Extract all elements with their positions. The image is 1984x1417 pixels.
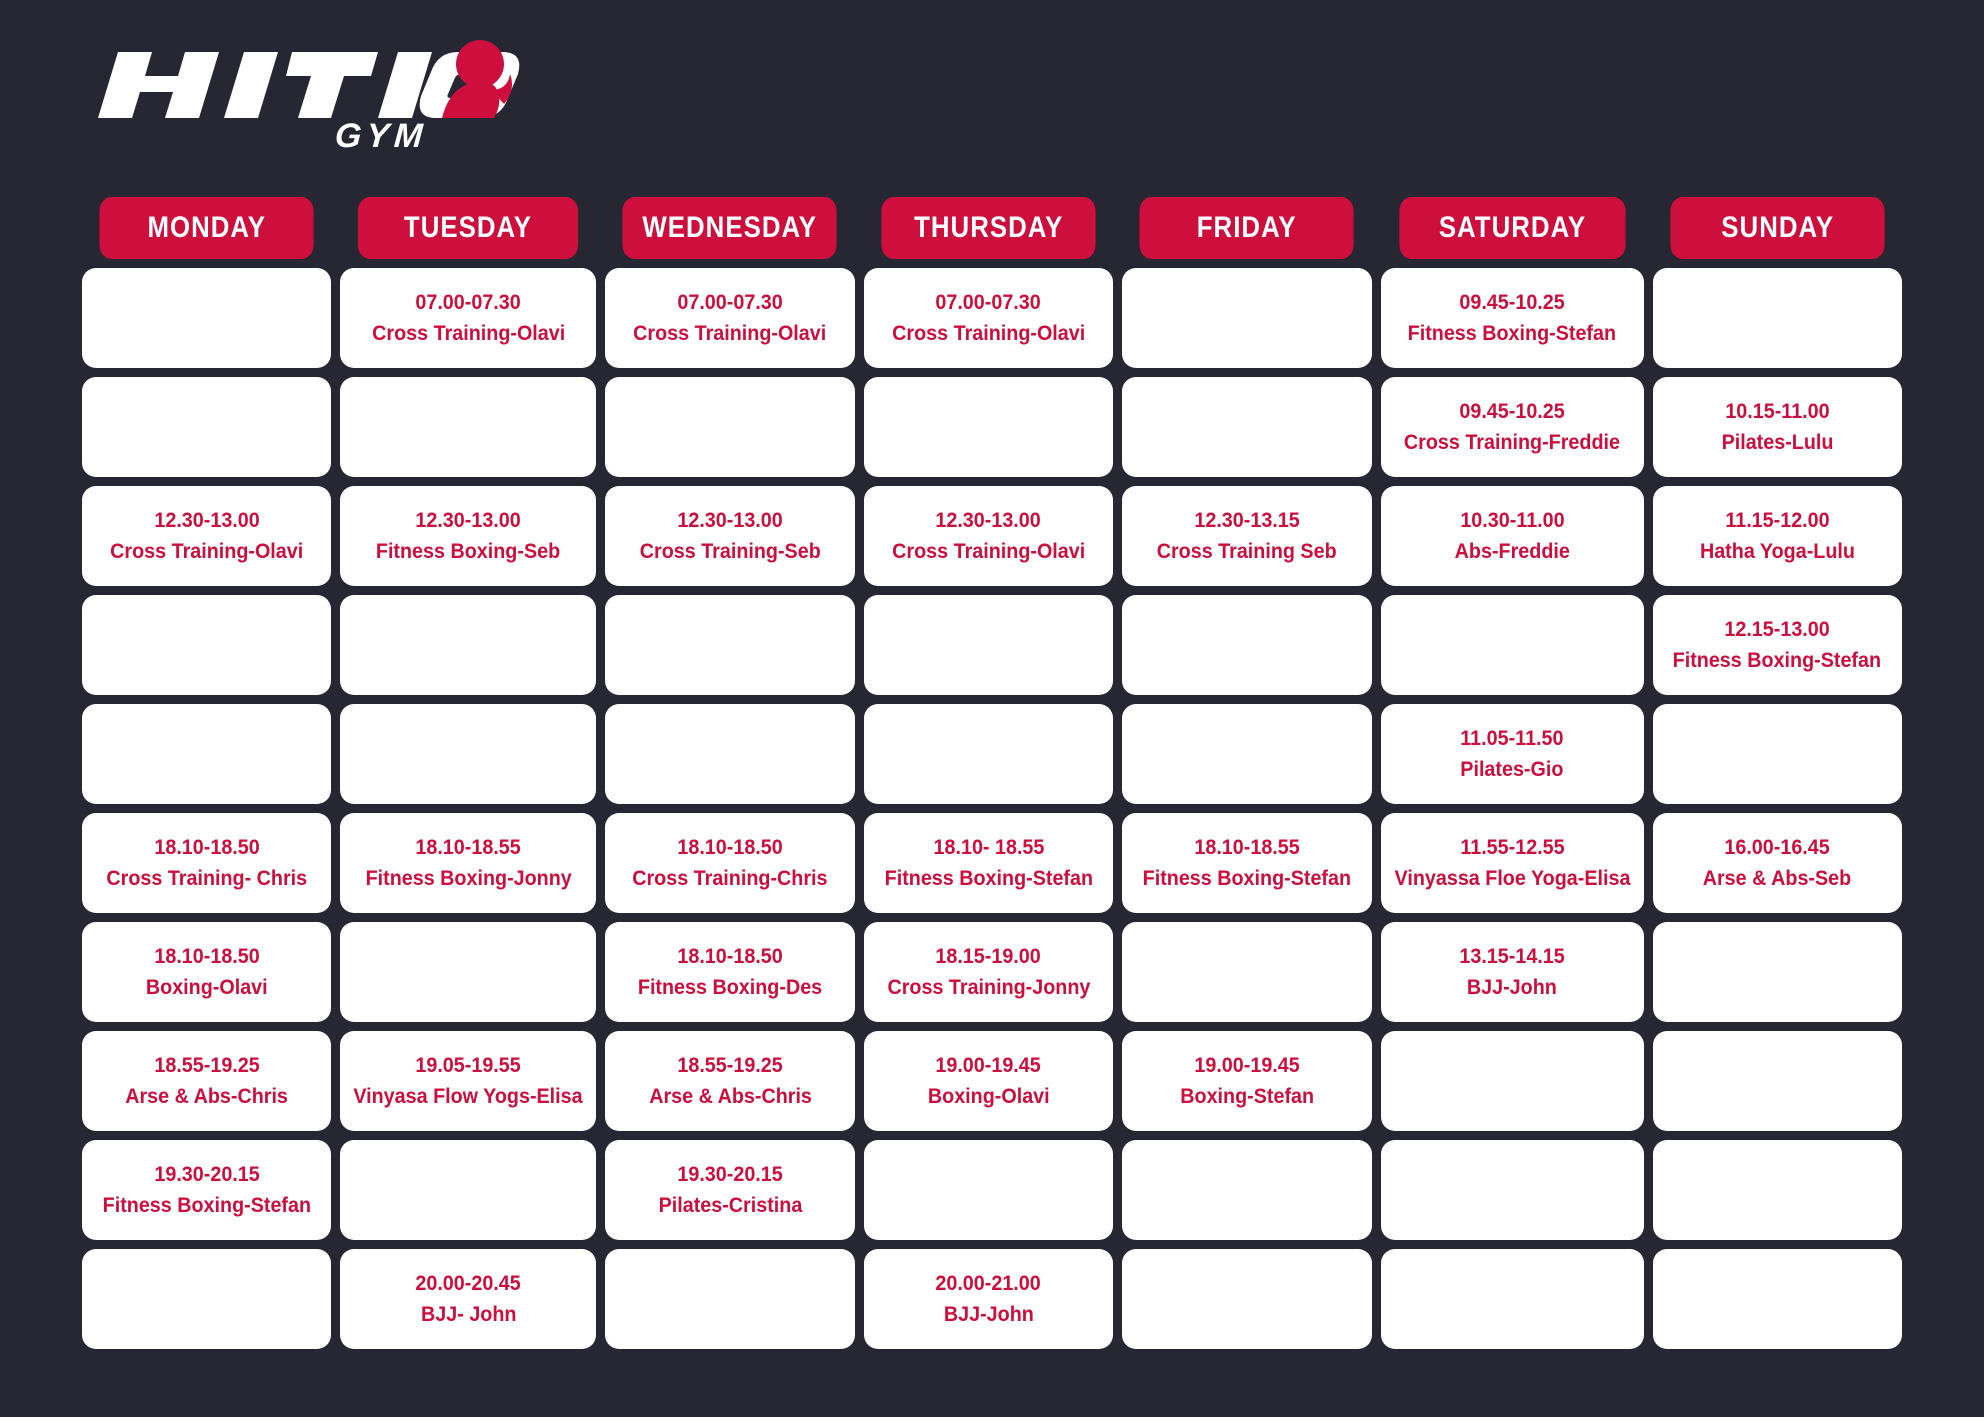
schedule-cell-empty xyxy=(605,595,854,695)
schedule-cell[interactable]: 12.30-13.00Cross Training-Olavi xyxy=(82,486,331,586)
schedule-cell[interactable]: 12.30-13.00Cross Training-Olavi xyxy=(864,486,1113,586)
class-time: 18.10-18.50 xyxy=(154,832,259,864)
class-name: Cross Training-Seb xyxy=(640,536,821,568)
class-time: 12.30-13.00 xyxy=(416,505,521,537)
schedule-cell-empty xyxy=(1381,1140,1644,1240)
class-time: 12.30-13.00 xyxy=(936,505,1041,537)
class-name: Pilates-Cristina xyxy=(658,1190,802,1222)
class-name: Pilates-Lulu xyxy=(1721,427,1833,459)
class-name: Abs-Freddie xyxy=(1455,536,1570,568)
class-name: Fitness Boxing-Stefan xyxy=(102,1190,310,1222)
schedule-cell[interactable]: 12.30-13.15Cross Training Seb xyxy=(1122,486,1371,586)
schedule-cell-empty xyxy=(1381,1031,1644,1131)
schedule-cell-empty xyxy=(340,704,596,804)
class-time: 18.10-18.50 xyxy=(677,832,782,864)
schedule-cell-empty xyxy=(1122,1249,1371,1349)
class-time: 20.00-20.45 xyxy=(416,1268,521,1300)
schedule-cell[interactable]: 19.30-20.15Pilates-Cristina xyxy=(605,1140,854,1240)
class-name: Fitness Boxing-Jonny xyxy=(365,863,571,895)
class-name: Pilates-Gio xyxy=(1461,754,1564,786)
schedule-cell[interactable]: 19.00-19.45Boxing-Olavi xyxy=(864,1031,1113,1131)
schedule-cell[interactable]: 13.15-14.15BJJ-John xyxy=(1381,922,1644,1022)
class-time: 19.05-19.55 xyxy=(416,1050,521,1082)
class-time: 18.10-18.50 xyxy=(677,941,782,973)
class-name: Fitness Boxing-Des xyxy=(638,972,822,1004)
schedule-cell-empty xyxy=(1653,1031,1902,1131)
schedule-cell[interactable]: 18.10-18.50Cross Training- Chris xyxy=(82,813,331,913)
schedule-cell-empty xyxy=(864,377,1113,477)
schedule-cell[interactable]: 18.10-18.50Cross Training-Chris xyxy=(605,813,854,913)
class-name: BJJ-John xyxy=(1467,972,1557,1004)
schedule-cell-empty xyxy=(1122,377,1371,477)
class-name: Fitness Boxing-Stefan xyxy=(884,863,1092,895)
weekly-schedule-grid: MONDAYTUESDAYWEDNESDAYTHURSDAYFRIDAYSATU… xyxy=(82,197,1902,1349)
class-name: Cross Training-Jonny xyxy=(887,972,1090,1004)
schedule-cell[interactable]: 12.30-13.00Cross Training-Seb xyxy=(605,486,854,586)
class-time: 09.45-10.25 xyxy=(1459,287,1564,319)
day-header-tuesday: TUESDAY xyxy=(358,197,578,259)
schedule-cell[interactable]: 10.15-11.00Pilates-Lulu xyxy=(1653,377,1902,477)
class-time: 07.00-07.30 xyxy=(677,287,782,319)
schedule-cell-empty xyxy=(340,377,596,477)
class-name: Hatha Yoga-Lulu xyxy=(1700,536,1855,568)
schedule-cell[interactable]: 16.00-16.45Arse & Abs-Seb xyxy=(1653,813,1902,913)
class-name: BJJ- John xyxy=(421,1299,516,1331)
schedule-cell[interactable]: 07.00-07.30Cross Training-Olavi xyxy=(340,268,596,368)
class-name: Arse & Abs-Seb xyxy=(1703,863,1851,895)
schedule-cell[interactable]: 18.10- 18.55Fitness Boxing-Stefan xyxy=(864,813,1113,913)
schedule-cell[interactable]: 09.45-10.25Fitness Boxing-Stefan xyxy=(1381,268,1644,368)
class-time: 19.30-20.15 xyxy=(154,1159,259,1191)
class-time: 07.00-07.30 xyxy=(416,287,521,319)
class-name: Cross Training- Chris xyxy=(106,863,307,895)
day-header-monday: MONDAY xyxy=(99,197,313,259)
class-time: 11.55-12.55 xyxy=(1460,832,1564,864)
class-time: 18.10-18.55 xyxy=(416,832,521,864)
schedule-cell-empty xyxy=(864,1140,1113,1240)
class-time: 18.10-18.50 xyxy=(154,941,259,973)
class-time: 07.00-07.30 xyxy=(936,287,1041,319)
schedule-cell[interactable]: 20.00-21.00BJJ-John xyxy=(864,1249,1113,1349)
schedule-cell[interactable]: 18.10-18.55Fitness Boxing-Stefan xyxy=(1122,813,1371,913)
class-time: 12.30-13.00 xyxy=(154,505,259,537)
schedule-cell[interactable]: 18.55-19.25Arse & Abs-Chris xyxy=(605,1031,854,1131)
class-name: Boxing-Olavi xyxy=(928,1081,1050,1113)
schedule-cell[interactable]: 11.05-11.50Pilates-Gio xyxy=(1381,704,1644,804)
schedule-cell-empty xyxy=(1122,595,1371,695)
schedule-cell-empty xyxy=(1122,1140,1371,1240)
class-name: Vinyasa Flow Yogs-Elisa xyxy=(354,1081,583,1113)
schedule-cell[interactable]: 18.10-18.50Fitness Boxing-Des xyxy=(605,922,854,1022)
schedule-cell-empty xyxy=(864,704,1113,804)
schedule-cell-empty xyxy=(1653,704,1902,804)
class-time: 13.15-14.15 xyxy=(1459,941,1564,973)
class-name: Cross Training-Chris xyxy=(632,863,827,895)
day-header-friday: FRIDAY xyxy=(1140,197,1355,259)
schedule-cell[interactable]: 18.10-18.55Fitness Boxing-Jonny xyxy=(340,813,596,913)
class-name: BJJ-John xyxy=(943,1299,1033,1331)
schedule-cell[interactable]: 10.30-11.00Abs-Freddie xyxy=(1381,486,1644,586)
class-time: 16.00-16.45 xyxy=(1725,832,1830,864)
schedule-cell-empty xyxy=(1381,595,1644,695)
class-name: Fitness Boxing-Stefan xyxy=(1673,645,1881,677)
class-time: 12.15-13.00 xyxy=(1725,614,1830,646)
schedule-cell[interactable]: 19.00-19.45Boxing-Stefan xyxy=(1122,1031,1371,1131)
schedule-cell-empty xyxy=(340,1140,596,1240)
schedule-cell[interactable]: 18.15-19.00Cross Training-Jonny xyxy=(864,922,1113,1022)
schedule-cell[interactable]: 19.05-19.55Vinyasa Flow Yogs-Elisa xyxy=(340,1031,596,1131)
schedule-cell-empty xyxy=(82,268,331,368)
class-time: 10.30-11.00 xyxy=(1460,505,1564,537)
schedule-cell-empty xyxy=(1653,268,1902,368)
schedule-poster: GYM MONDAYTUESDAYWEDNESDAYTHURSDAYFRIDAY… xyxy=(0,0,1984,1417)
hitio-logo-icon xyxy=(90,38,520,143)
class-time: 12.30-13.15 xyxy=(1194,505,1299,537)
schedule-cell-empty xyxy=(82,1249,331,1349)
schedule-cell[interactable]: 11.55-12.55Vinyassa Floe Yoga-Elisa xyxy=(1381,813,1644,913)
schedule-cell[interactable]: 12.30-13.00Fitness Boxing-Seb xyxy=(340,486,596,586)
class-time: 11.15-12.00 xyxy=(1725,505,1829,537)
class-time: 10.15-11.00 xyxy=(1725,396,1829,428)
schedule-cell-empty xyxy=(82,595,331,695)
class-name: Cross Training-Freddie xyxy=(1404,427,1620,459)
schedule-cell[interactable]: 11.15-12.00Hatha Yoga-Lulu xyxy=(1653,486,1902,586)
schedule-cell-empty xyxy=(1122,922,1371,1022)
schedule-cell-empty xyxy=(1381,1249,1644,1349)
class-time: 18.15-19.00 xyxy=(936,941,1041,973)
schedule-cell-empty xyxy=(1653,1140,1902,1240)
class-time: 18.10-18.55 xyxy=(1194,832,1299,864)
class-name: Cross Training-Olavi xyxy=(110,536,303,568)
class-name: Arse & Abs-Chris xyxy=(649,1081,812,1113)
class-time: 09.45-10.25 xyxy=(1459,396,1564,428)
class-name: Cross Training-Olavi xyxy=(634,318,827,350)
schedule-cell[interactable]: 07.00-07.30Cross Training-Olavi xyxy=(605,268,854,368)
class-time: 18.55-19.25 xyxy=(154,1050,259,1082)
schedule-cell[interactable]: 18.10-18.50Boxing-Olavi xyxy=(82,922,331,1022)
schedule-cell[interactable]: 19.30-20.15Fitness Boxing-Stefan xyxy=(82,1140,331,1240)
class-name: Cross Training-Olavi xyxy=(892,318,1085,350)
class-name: Vinyassa Floe Yoga-Elisa xyxy=(1394,863,1630,895)
class-name: Cross Training Seb xyxy=(1157,536,1337,568)
schedule-cell-empty xyxy=(340,922,596,1022)
day-header-sunday: SUNDAY xyxy=(1670,197,1884,259)
class-time: 18.55-19.25 xyxy=(677,1050,782,1082)
class-time: 19.00-19.45 xyxy=(1194,1050,1299,1082)
class-time: 19.00-19.45 xyxy=(936,1050,1041,1082)
schedule-cell-empty xyxy=(1653,922,1902,1022)
class-name: Boxing-Stefan xyxy=(1180,1081,1314,1113)
class-name: Cross Training-Olavi xyxy=(892,536,1085,568)
class-name: Fitness Boxing-Stefan xyxy=(1408,318,1616,350)
class-time: 19.30-20.15 xyxy=(677,1159,782,1191)
class-name: Boxing-Olavi xyxy=(146,972,268,1004)
schedule-cell-empty xyxy=(605,704,854,804)
class-time: 20.00-21.00 xyxy=(936,1268,1041,1300)
schedule-cell-empty xyxy=(1122,704,1371,804)
hitio-wordmark: GYM xyxy=(90,38,520,143)
schedule-cell[interactable]: 07.00-07.30Cross Training-Olavi xyxy=(864,268,1113,368)
schedule-cell-empty xyxy=(82,704,331,804)
schedule-cell[interactable]: 12.15-13.00Fitness Boxing-Stefan xyxy=(1653,595,1902,695)
class-time: 12.30-13.00 xyxy=(677,505,782,537)
schedule-cell-empty xyxy=(340,595,596,695)
class-name: Arse & Abs-Chris xyxy=(125,1081,288,1113)
day-header-saturday: SATURDAY xyxy=(1399,197,1625,259)
schedule-cell[interactable]: 18.55-19.25Arse & Abs-Chris xyxy=(82,1031,331,1131)
schedule-cell-empty xyxy=(605,377,854,477)
brand-logo: GYM xyxy=(90,38,520,173)
class-name: Fitness Boxing-Seb xyxy=(376,536,560,568)
schedule-cell-empty xyxy=(864,595,1113,695)
class-time: 11.05-11.50 xyxy=(1460,723,1563,755)
schedule-cell-empty xyxy=(1653,1249,1902,1349)
schedule-cell-empty xyxy=(82,377,331,477)
class-name: Cross Training-Olavi xyxy=(372,318,565,350)
schedule-cell[interactable]: 09.45-10.25Cross Training-Freddie xyxy=(1381,377,1644,477)
class-time: 18.10- 18.55 xyxy=(933,832,1044,864)
day-header-thursday: THURSDAY xyxy=(881,197,1096,259)
class-name: Fitness Boxing-Stefan xyxy=(1143,863,1351,895)
schedule-cell-empty xyxy=(605,1249,854,1349)
day-header-wednesday: WEDNESDAY xyxy=(623,197,838,259)
schedule-cell-empty xyxy=(1122,268,1371,368)
schedule-cell[interactable]: 20.00-20.45BJJ- John xyxy=(340,1249,596,1349)
